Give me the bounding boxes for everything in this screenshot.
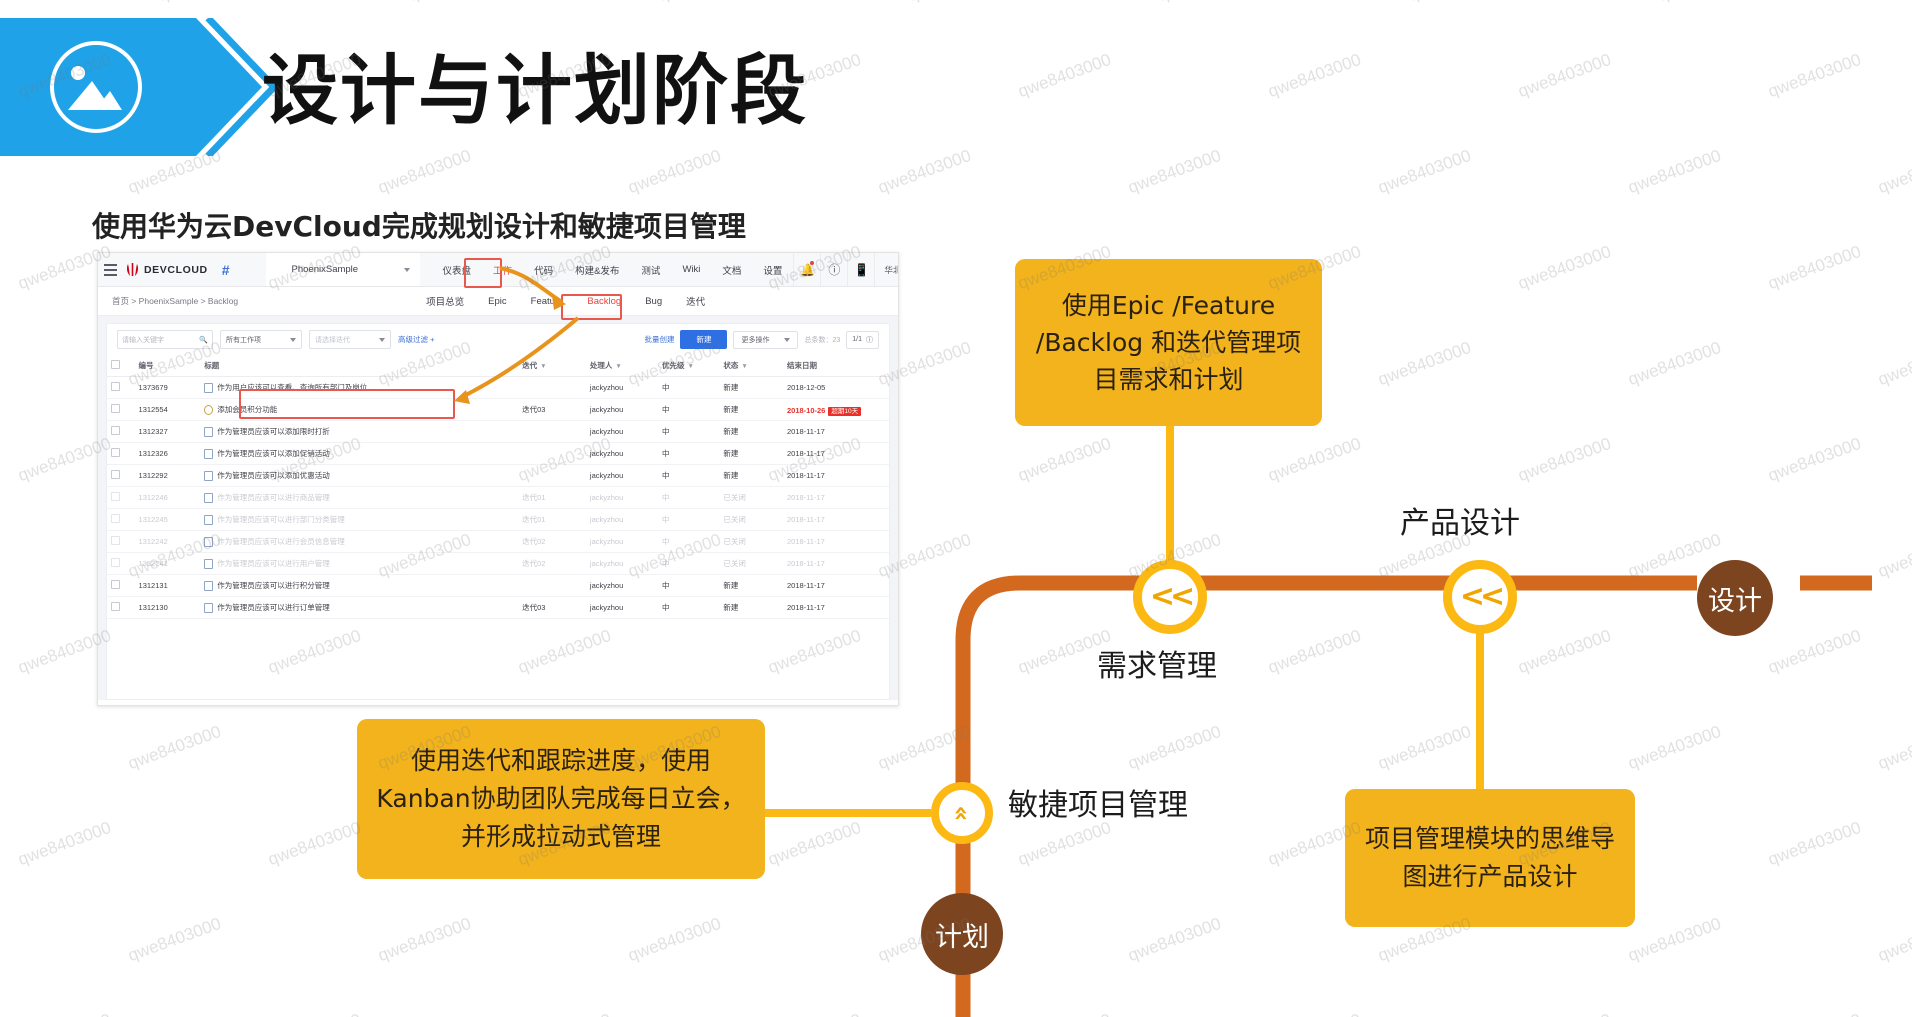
search-icon[interactable]: 🔍 [199,336,208,344]
row-enddate: 2018-11-17 [783,575,889,597]
subnav-item-feature[interactable]: Feature [519,296,576,307]
devcloud-body: 请输入关键字 🔍 所有工作项 请选择迭代 高级过滤 + 批量创建 新建 更多操作 [98,316,898,700]
watermark: qwe8403000 [1875,914,1912,966]
batch-create-link[interactable]: 批量创建 [644,334,674,345]
mobile-icon[interactable]: 📱 [847,253,874,286]
row-priority: 中 [658,465,719,487]
row-iteration: 迭代01 [518,487,586,509]
breadcrumb: 首页 > PhoenixSample > Backlog [112,295,238,307]
table-row[interactable]: 1312245作为管理员应该可以进行部门分类管理迭代01jackyzhou中已关… [107,509,889,531]
row-enddate: 2018-11-17 [783,531,889,553]
row-id: 1312242 [135,531,201,553]
watermark: qwe8403000 [1515,242,1613,294]
row-checkbox[interactable] [107,531,135,553]
subnav-item-iteration[interactable]: 迭代 [674,294,717,308]
row-priority: 中 [658,377,719,399]
watermark: qwe8403000 [15,1010,113,1017]
watermark: qwe8403000 [1125,914,1223,966]
subnav-item-epic[interactable]: Epic [476,296,518,307]
col-owner[interactable]: 处理人▼ [586,355,658,377]
watermark: qwe8403000 [265,1010,363,1017]
row-priority: 中 [658,421,719,443]
breadcrumb-row: 首页 > PhoenixSample > Backlog 项目总览 Epic F… [98,287,898,316]
backlog-table: 编号 标题 迭代▼ 处理人▼ 优先级▼ 状态▼ 结束日期 1373679作为用户… [107,355,889,619]
row-iteration: 迭代02 [518,531,586,553]
row-owner: jackyzhou [586,421,658,443]
more-actions-label: 更多操作 [741,335,769,345]
watermark: qwe8403000 [1765,626,1863,678]
subnav-item-overview[interactable]: 项目总览 [414,294,476,308]
page-title: 设计与计划阶段 [262,36,808,146]
watermark: qwe8403000 [1625,722,1723,774]
watermark: qwe8403000 [765,1010,863,1017]
table-row[interactable]: 1312246作为管理员应该可以进行商品管理迭代01jackyzhou中已关闭2… [107,487,889,509]
chevron-down-icon [404,268,410,272]
pagination[interactable]: 1/1 ⓘ [846,331,879,349]
double-chevron-left-icon: << [1460,582,1500,612]
row-status: 新建 [719,575,783,597]
iteration-select[interactable]: 请选择迭代 [309,330,391,349]
huawei-icon [125,263,140,277]
region-label: 华北-北京一 [884,264,899,276]
watermark: qwe8403000 [1015,434,1113,486]
workitem-type-select[interactable]: 所有工作项 [220,330,302,349]
search-input[interactable]: 请输入关键字 🔍 [117,330,213,349]
watermark: qwe8403000 [1375,338,1473,390]
row-owner: jackyzhou [586,597,658,619]
row-priority: 中 [658,553,719,575]
row-enddate: 2018-11-17 [783,443,889,465]
workitem-type-value: 所有工作项 [226,335,261,345]
filter-icon: ▼ [741,363,747,370]
backlog-panel: 请输入关键字 🔍 所有工作项 请选择迭代 高级过滤 + 批量创建 新建 更多操作 [106,323,890,700]
story-icon [204,383,213,393]
watermark: qwe8403000 [1265,434,1363,486]
total-count: 总条数：23 [804,335,840,345]
search-placeholder: 请输入关键字 [122,335,164,345]
col-title: 标题 [200,355,518,377]
menu-icon[interactable] [104,264,117,276]
watermark: qwe8403000 [1515,626,1613,678]
stage-plan[interactable]: 计划 [921,893,1003,975]
callout-mindmap: 项目管理模块的思维导图进行产品设计 [1345,789,1635,927]
row-id: 1312241 [135,553,201,575]
watermark: qwe8403000 [1765,242,1863,294]
watermark: qwe8403000 [265,818,363,870]
callout-kanban: 使用迭代和跟踪进度，使用Kanban协助团队完成每日立会，并形成拉动式管理 [357,719,765,879]
story-icon [204,449,213,459]
row-title[interactable]: 作为管理员应该可以进行用户管理 [200,553,518,575]
devcloud-main-nav: 仪表盘 工作 代码 构建&发布 测试 Wiki 文档 设置 [432,263,794,277]
watermark: qwe8403000 [1625,914,1723,966]
devcloud-screenshot: DEVCLOUD # PhoenixSample 仪表盘 工作 代码 构建&发布… [97,252,899,706]
table-row[interactable]: 1312131作为管理员应该可以进行积分管理jackyzhou中新建2018-1… [107,575,889,597]
nav-item-work[interactable]: 工作 [482,263,523,277]
row-id: 1312554 [135,399,201,421]
row-owner: jackyzhou [586,509,658,531]
row-iteration [518,377,586,399]
chevron-down-icon [290,338,296,342]
bell-icon[interactable]: 🔔 [793,253,820,286]
page-indicator: 1/1 [852,336,862,343]
row-id: 1312246 [135,487,201,509]
row-enddate: 2018-11-17 [783,553,889,575]
table-row[interactable]: 1312292作为管理员应该可以添加优惠活动jackyzhou中新建2018-1… [107,465,889,487]
node-requirement-management[interactable]: << [1133,560,1207,634]
subnav-item-backlog[interactable]: Backlog [575,296,633,307]
row-title[interactable]: 作为管理员应该可以进行积分管理 [200,575,518,597]
row-title[interactable]: 作为管理员应该可以添加限时打折 [200,421,518,443]
action-bar: 批量创建 新建 更多操作 总条数：23 1/1 ⓘ [644,330,879,349]
story-icon [204,603,213,613]
watermark: qwe8403000 [1015,1010,1113,1017]
region-selector[interactable]: 华北-北京一 [874,253,899,286]
top-strip [0,0,1912,18]
nav-item-build-release[interactable]: 构建&发布 [564,263,630,277]
row-owner: jackyzhou [586,553,658,575]
watermark: qwe8403000 [1015,818,1113,870]
row-iteration [518,443,586,465]
label-requirement-management: 需求管理 [1097,641,1217,685]
label-product-design: 产品设计 [1400,498,1520,542]
nav-item-docs[interactable]: 文档 [711,263,752,277]
row-iteration: 迭代03 [518,597,586,619]
project-selector[interactable]: PhoenixSample [266,253,420,286]
node-agile-management[interactable]: « [931,782,993,844]
table-row[interactable]: 1312327作为管理员应该可以添加限时打折jackyzhou中新建2018-1… [107,421,889,443]
table-row[interactable]: 1312241作为管理员应该可以进行用户管理迭代02jackyzhou中已关闭2… [107,553,889,575]
row-iteration: 迭代03 [518,399,586,421]
table-row[interactable]: 1312130作为管理员应该可以进行订单管理迭代03jackyzhou中新建20… [107,597,889,619]
row-enddate: 2018-12-05 [783,377,889,399]
row-enddate: 2018-11-17 [783,597,889,619]
node-product-design[interactable]: << [1443,560,1517,634]
label-agile-management: 敏捷项目管理 [1008,780,1188,824]
row-status: 新建 [719,597,783,619]
watermark: qwe8403000 [625,914,723,966]
row-status: 已关闭 [719,531,783,553]
row-title[interactable]: 作为管理员应该可以进行会员信息管理 [200,531,518,553]
double-chevron-down-icon: « [950,805,975,821]
row-priority: 中 [658,399,719,421]
work-subnav: 项目总览 Epic Feature Backlog Bug 迭代 [414,294,717,308]
row-id: 1312292 [135,465,201,487]
row-status: 已关闭 [719,553,783,575]
row-priority: 中 [658,509,719,531]
devcloud-logo[interactable]: DEVCLOUD [125,263,208,277]
nav-item-settings[interactable]: 设置 [752,263,793,277]
row-checkbox[interactable] [107,553,135,575]
watermark: qwe8403000 [1765,434,1863,486]
row-iteration [518,465,586,487]
select-all-checkbox[interactable] [107,355,135,377]
watermark: qwe8403000 [875,722,973,774]
watermark: qwe8403000 [1875,722,1912,774]
row-id: 1312326 [135,443,201,465]
story-icon [204,559,213,569]
devcloud-topbar: DEVCLOUD # PhoenixSample 仪表盘 工作 代码 构建&发布… [98,253,898,287]
nav-item-dashboard[interactable]: 仪表盘 [432,263,483,277]
nav-item-test[interactable]: 测试 [630,263,671,277]
row-id: 1312131 [135,575,201,597]
watermark: qwe8403000 [375,914,473,966]
stage-design[interactable]: 设计 [1697,560,1773,636]
table-row[interactable]: 1312242作为管理员应该可以进行会员信息管理迭代02jackyzhou中已关… [107,531,889,553]
row-priority: 中 [658,487,719,509]
bug-icon [204,405,213,415]
row-priority: 中 [658,531,719,553]
watermark: qwe8403000 [1625,338,1723,390]
row-status: 新建 [719,399,783,421]
watermark: qwe8403000 [1875,530,1912,582]
table-row[interactable]: 1373679作为用户应该可以查看、查询所有部门及岗位jackyzhou中新建2… [107,377,889,399]
story-icon [204,581,213,591]
row-owner: jackyzhou [586,531,658,553]
row-priority: 中 [658,443,719,465]
close-icon[interactable]: ⓘ [866,335,873,345]
row-owner: jackyzhou [586,399,658,421]
filter-icon: ▼ [687,363,693,370]
devcloud-brand: DEVCLOUD [144,264,208,276]
row-iteration [518,575,586,597]
watermark: qwe8403000 [15,818,113,870]
row-checkbox[interactable] [107,487,135,509]
row-priority: 中 [658,597,719,619]
watermark: qwe8403000 [1265,1010,1363,1017]
project-name: PhoenixSample [292,264,359,275]
watermark: qwe8403000 [1265,626,1363,678]
row-title[interactable]: 作为管理员应该可以进行商品管理 [200,487,518,509]
iteration-value: 请选择迭代 [315,335,350,345]
row-title[interactable]: 作为管理员应该可以进行订单管理 [200,597,518,619]
row-title[interactable]: 添加会员积分功能 [200,399,518,421]
advanced-filter-link[interactable]: 高级过滤 + [398,334,434,345]
subnav-item-bug[interactable]: Bug [633,296,674,307]
row-title[interactable]: 作为用户应该可以查看、查询所有部门及岗位 [200,377,518,399]
nav-item-wiki[interactable]: Wiki [671,264,711,275]
callout-epic: 使用Epic /Feature /Backlog 和迭代管理项目需求和计划 [1015,259,1322,426]
story-icon [204,493,213,503]
row-checkbox[interactable] [107,509,135,531]
watermark: qwe8403000 [1765,818,1863,870]
row-enddate: 2018-11-17 [783,465,889,487]
chevron-down-icon [379,338,385,342]
col-enddate: 结束日期 [783,355,889,377]
row-owner: jackyzhou [586,377,658,399]
filter-icon: ▼ [615,363,621,370]
row-owner: jackyzhou [586,487,658,509]
row-owner: jackyzhou [586,465,658,487]
watermark: qwe8403000 [1515,434,1613,486]
watermark: qwe8403000 [125,722,223,774]
story-icon [204,471,213,481]
row-status: 新建 [719,421,783,443]
story-icon [204,515,213,525]
row-title[interactable]: 作为管理员应该可以添加促销活动 [200,443,518,465]
row-enddate: 2018-10-26超期10天 [783,399,889,421]
project-hash-icon[interactable]: # [222,262,230,278]
col-priority[interactable]: 优先级▼ [658,355,719,377]
notification-dot [810,261,814,265]
watermark: qwe8403000 [1765,1010,1863,1017]
row-checkbox[interactable] [107,465,135,487]
story-icon [204,427,213,437]
watermark: qwe8403000 [515,1010,613,1017]
filter-icon: ▼ [540,363,546,370]
row-owner: jackyzhou [586,575,658,597]
col-status[interactable]: 状态▼ [719,355,783,377]
row-iteration: 迭代01 [518,509,586,531]
create-button[interactable]: 新建 [680,330,727,349]
overdue-badge: 超期10天 [828,407,861,416]
row-id: 1373679 [135,377,201,399]
col-iteration[interactable]: 迭代▼ [518,355,586,377]
chevron-down-icon [784,338,790,342]
row-id: 1312130 [135,597,201,619]
watermark: qwe8403000 [1375,722,1473,774]
row-status: 已关闭 [719,509,783,531]
row-checkbox[interactable] [107,443,135,465]
row-id: 1312327 [135,421,201,443]
row-checkbox[interactable] [107,377,135,399]
filter-bar: 请输入关键字 🔍 所有工作项 请选择迭代 高级过滤 + 批量创建 新建 更多操作 [107,324,889,355]
row-status: 已关闭 [719,487,783,509]
backlog-table-body: 1373679作为用户应该可以查看、查询所有部门及岗位jackyzhou中新建2… [107,377,889,619]
row-checkbox[interactable] [107,575,135,597]
devcloud-topbar-icons: 🔔 ⓘ 📱 华北-北京一 [793,253,899,286]
row-enddate: 2018-11-17 [783,487,889,509]
row-status: 新建 [719,377,783,399]
nav-item-code[interactable]: 代码 [523,263,564,277]
story-icon [204,537,213,547]
row-enddate: 2018-11-17 [783,421,889,443]
row-id: 1312245 [135,509,201,531]
row-checkbox[interactable] [107,421,135,443]
row-title[interactable]: 作为管理员应该可以添加优惠活动 [200,465,518,487]
watermark: qwe8403000 [1875,338,1912,390]
table-header-row: 编号 标题 迭代▼ 处理人▼ 优先级▼ 状态▼ 结束日期 [107,355,889,377]
col-id: 编号 [135,355,201,377]
watermark: qwe8403000 [1125,722,1223,774]
page-subtitle: 使用华为云DevCloud完成规划设计和敏捷项目管理 [92,205,746,245]
help-icon[interactable]: ⓘ [820,253,847,286]
row-checkbox[interactable] [107,597,135,619]
header-chevron-icon [0,18,278,156]
more-actions-button[interactable]: 更多操作 [733,331,798,349]
table-row[interactable]: 1312326作为管理员应该可以添加促销活动jackyzhou中新建2018-1… [107,443,889,465]
watermark: qwe8403000 [1515,1010,1613,1017]
row-priority: 中 [658,575,719,597]
row-status: 新建 [719,443,783,465]
watermark: qwe8403000 [765,818,863,870]
row-title[interactable]: 作为管理员应该可以进行部门分类管理 [200,509,518,531]
row-owner: jackyzhou [586,443,658,465]
row-checkbox[interactable] [107,399,135,421]
row-iteration: 迭代02 [518,553,586,575]
row-iteration [518,421,586,443]
watermark: qwe8403000 [125,914,223,966]
row-status: 新建 [719,465,783,487]
row-enddate: 2018-11-17 [783,509,889,531]
table-row[interactable]: 1312554添加会员积分功能迭代03jackyzhou中新建2018-10-2… [107,399,889,421]
double-chevron-left-icon: << [1150,582,1190,612]
